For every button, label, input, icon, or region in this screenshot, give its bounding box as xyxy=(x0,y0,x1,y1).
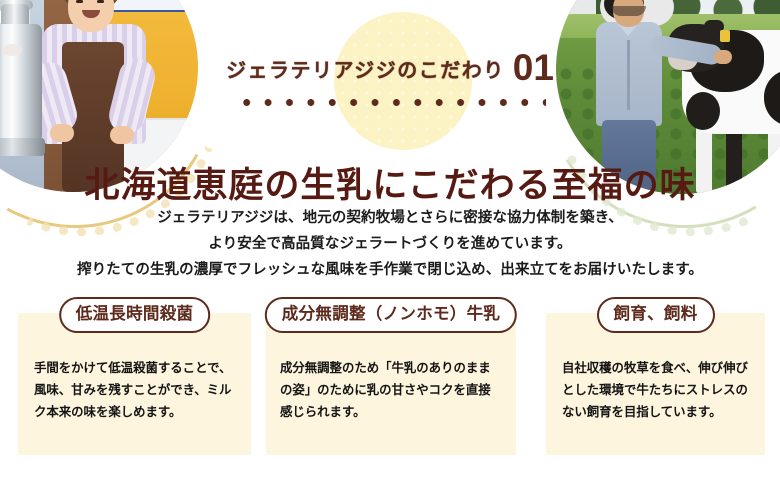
page-title: 北海道恵庭の生乳にこだわる至福の味 xyxy=(0,166,780,206)
feature-card-body: 成分無調整のため「牛乳のありのままの姿」のために乳の甘さやコクを直接感じられます… xyxy=(266,357,516,423)
feature-card-list: 低温長時間殺菌 手間をかけて低温殺菌することで、風味、甘みを残すことができ、ミル… xyxy=(0,313,780,455)
lead-line-1: ジェラテリアジジは、地元の契約牧場とさらに密接な協力体制を築き、 xyxy=(0,205,780,231)
lead-paragraph: ジェラテリアジジは、地元の契約牧場とさらに密接な協力体制を築き、 より安全で高品… xyxy=(0,205,780,283)
lead-line-2: より安全で高品質なジェラートづくりを進めています。 xyxy=(0,231,780,257)
farmer-with-cows-photo xyxy=(556,0,780,194)
section-number: 01 xyxy=(513,52,554,84)
feature-card: 低温長時間殺菌 手間をかけて低温殺菌することで、風味、甘みを残すことができ、ミル… xyxy=(18,313,251,455)
promo-page: Gigi xyxy=(0,0,780,484)
feature-card-body: 自社収穫の牧草を食べ、伸び伸びとした環境で牛たちにストレスのない飼育を目指してい… xyxy=(546,357,765,423)
holstein-cow xyxy=(668,0,780,194)
dotted-divider xyxy=(236,98,546,107)
farmer-person xyxy=(594,0,672,194)
eyebrow-label: ジェラテリアジジのこだわり xyxy=(226,61,505,84)
barn xyxy=(562,0,596,14)
feature-card: 成分無調整（ノンホモ）牛乳 成分無調整のため「牛乳のありのままの姿」のために乳の… xyxy=(266,313,516,455)
feature-card-title: 飼育、飼料 xyxy=(597,297,715,333)
staff-holding-milk-can-photo: Gigi xyxy=(0,0,198,192)
feature-card-body: 手間をかけて低温殺菌することで、風味、甘みを残すことができ、ミルク本来の味を楽し… xyxy=(18,357,251,423)
staff-person xyxy=(34,0,152,192)
section-eyebrow: ジェラテリアジジのこだわり 01 xyxy=(0,52,780,84)
cow-ear-tag xyxy=(720,30,730,42)
feature-card: 飼育、飼料 自社収穫の牧草を食べ、伸び伸びとした環境で牛たちにストレスのない飼育… xyxy=(546,313,765,455)
feature-card-title: 低温長時間殺菌 xyxy=(59,297,211,333)
lead-line-3: 搾りたての生乳の濃厚でフレッシュな風味を手作業で閉じ込め、出来立てをお届けいたし… xyxy=(0,257,780,283)
feature-card-title: 成分無調整（ノンホモ）牛乳 xyxy=(265,297,517,333)
